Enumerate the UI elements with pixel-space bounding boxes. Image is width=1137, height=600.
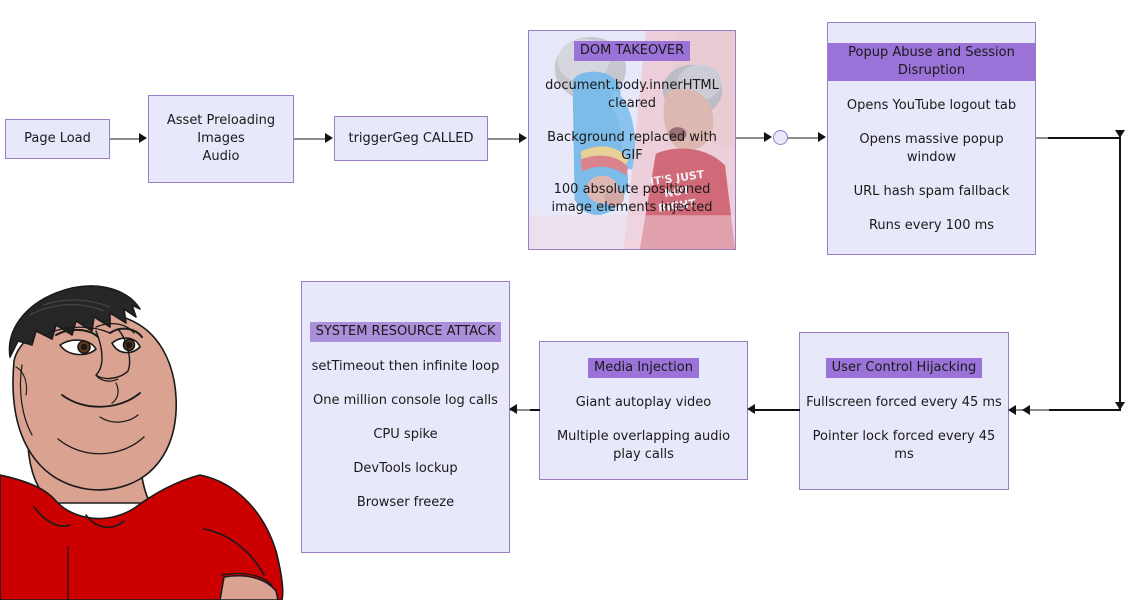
node-title: User Control Hijacking (826, 358, 983, 378)
cartoon-man-svg (0, 275, 290, 600)
node-dom-takeover[interactable]: IT'S JUST NOT RIGHT DOM TAKEOVER documen… (528, 30, 736, 250)
node-line: Background replaced with GIF (529, 129, 735, 165)
arrowhead-right (519, 133, 527, 143)
node-trigger-geg-called[interactable]: triggerGeg CALLED (334, 116, 488, 161)
node-line: Audio (149, 148, 293, 166)
node-title: SYSTEM RESOURCE ATTACK (310, 322, 502, 342)
node-line: document.body.innerHTML cleared (529, 77, 735, 113)
edge-user-control-to-media-injection (755, 409, 800, 411)
node-line: Images (149, 130, 293, 148)
node-line: URL hash spam fallback (828, 183, 1035, 201)
edge-dom-takeover-to-junction (736, 137, 764, 139)
edge-right-rail-vertical (1119, 137, 1121, 410)
junction-connector-node[interactable] (773, 130, 788, 145)
node-title: DOM TAKEOVER (574, 41, 690, 61)
node-line: DevTools lockup (302, 460, 509, 478)
arrowhead-left (1022, 405, 1030, 415)
node-line: Opens YouTube logout tab (828, 97, 1035, 115)
arrowhead-down (1115, 402, 1125, 410)
node-title: Media Injection (588, 358, 699, 378)
node-line: Giant autoplay video (540, 394, 747, 412)
node-line: One million console log calls (302, 392, 509, 410)
node-line: Pointer lock forced every 45 ms (800, 428, 1008, 464)
node-line: Asset Preloading (149, 112, 293, 130)
node-line: triggerGeg CALLED (335, 130, 487, 148)
node-popup-abuse-and-session-disruption[interactable]: Popup Abuse and Session Disruption Opens… (827, 22, 1036, 255)
arrowhead-right (818, 132, 826, 142)
edge-asset-preloading-to-trigger-geg (294, 138, 325, 140)
node-line: Multiple overlapping audio play calls (540, 428, 747, 464)
arrowhead-left (1008, 405, 1016, 415)
node-line: Opens massive popup window (828, 131, 1035, 167)
node-line: Browser freeze (302, 494, 509, 512)
node-line: Runs every 100 ms (828, 217, 1035, 235)
arrowhead-right (139, 133, 147, 143)
node-title: Popup Abuse and Session Disruption (828, 43, 1035, 81)
edge-junction-to-popup-abuse (788, 137, 818, 139)
edge-trigger-geg-to-dom-takeover (488, 138, 519, 140)
node-asset-preloading[interactable]: Asset Preloading Images Audio (148, 95, 294, 183)
node-page-load[interactable]: Page Load (5, 119, 110, 159)
arrowhead-right (764, 132, 772, 142)
node-line: 100 absolute positioned image elements i… (529, 181, 735, 217)
node-content: DOM TAKEOVER document.body.innerHTML cle… (529, 41, 735, 217)
edge-page-load-to-asset-preloading (110, 138, 140, 140)
node-line: Fullscreen forced every 45 ms (800, 394, 1008, 412)
node-line: Page Load (6, 130, 109, 148)
edge-popup-abuse-to-right-rail (1048, 137, 1121, 139)
arrowhead-left (747, 404, 755, 414)
node-system-resource-attack[interactable]: SYSTEM RESOURCE ATTACK setTimeout then i… (301, 281, 510, 553)
node-line: setTimeout then infinite loop (302, 358, 509, 376)
arrowhead-left (509, 404, 517, 414)
arrowhead-down (1115, 130, 1125, 138)
arrowhead-right (325, 133, 333, 143)
cartoon-man-red-shirt-illustration (0, 275, 290, 600)
node-line: CPU spike (302, 426, 509, 444)
node-user-control-hijacking[interactable]: User Control Hijacking Fullscreen forced… (799, 332, 1009, 490)
node-media-injection[interactable]: Media Injection Giant autoplay video Mul… (539, 341, 748, 480)
